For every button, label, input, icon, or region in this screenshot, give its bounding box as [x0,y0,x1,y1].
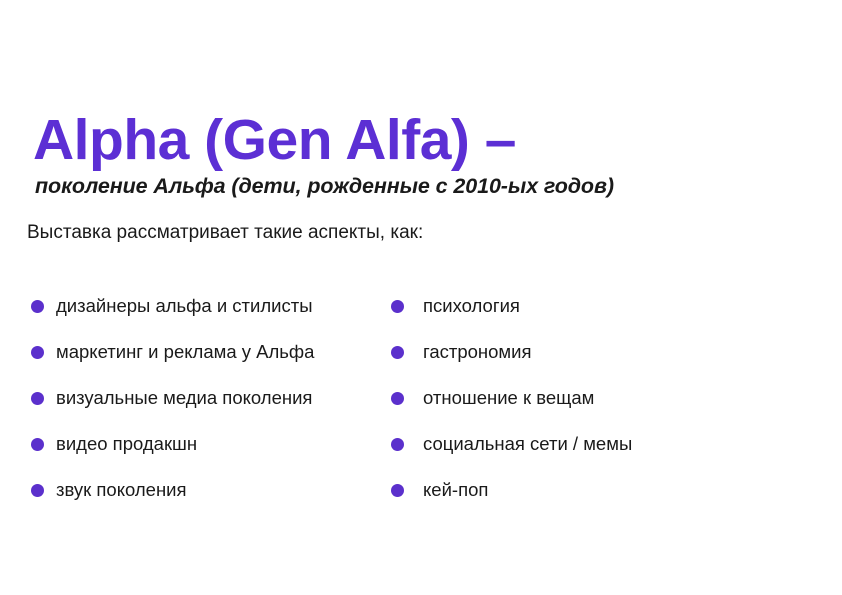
list-item: звук поколения [31,467,380,513]
list-item: видео продакшн [31,421,380,467]
list-item-label: социальная сети / мемы [423,433,632,455]
aspects-right-column: психология гастрономия отношение к вещам… [380,283,800,513]
slide-subtitle: поколение Альфа (дети, рожденные с 2010-… [35,173,614,200]
bullet-dot-icon [391,392,404,405]
bullet-dot-icon [31,484,44,497]
bullet-dot-icon [31,300,44,313]
bullet-dot-icon [391,438,404,451]
list-item: маркетинг и реклама у Альфа [31,329,380,375]
list-item-label: визуальные медиа поколения [56,387,312,409]
bullet-dot-icon [31,438,44,451]
aspects-list: дизайнеры альфа и стилисты маркетинг и р… [0,283,842,513]
bullet-dot-icon [31,346,44,359]
list-item-label: дизайнеры альфа и стилисты [56,295,313,317]
list-item-label: кей-поп [423,479,488,501]
aspects-left-column: дизайнеры альфа и стилисты маркетинг и р… [0,283,380,513]
slide-intro-text: Выставка рассматривает такие аспекты, ка… [27,221,423,246]
list-item-label: маркетинг и реклама у Альфа [56,341,314,363]
list-item-label: гастрономия [423,341,532,363]
list-item: визуальные медиа поколения [31,375,380,421]
list-item: социальная сети / мемы [391,421,800,467]
bullet-dot-icon [391,484,404,497]
list-item-label: звук поколения [56,479,187,501]
bullet-dot-icon [391,346,404,359]
list-item: психология [391,283,800,329]
presentation-slide: Alpha (Gen Alfa) – поколение Альфа (дети… [0,0,842,595]
bullet-dot-icon [391,300,404,313]
list-item-label: психология [423,295,520,317]
list-item-label: видео продакшн [56,433,197,455]
list-item: дизайнеры альфа и стилисты [31,283,380,329]
list-item-label: отношение к вещам [423,387,594,409]
list-item: отношение к вещам [391,375,800,421]
page-title: Alpha (Gen Alfa) – [33,110,516,172]
list-item: кей-поп [391,467,800,513]
bullet-dot-icon [31,392,44,405]
list-item: гастрономия [391,329,800,375]
